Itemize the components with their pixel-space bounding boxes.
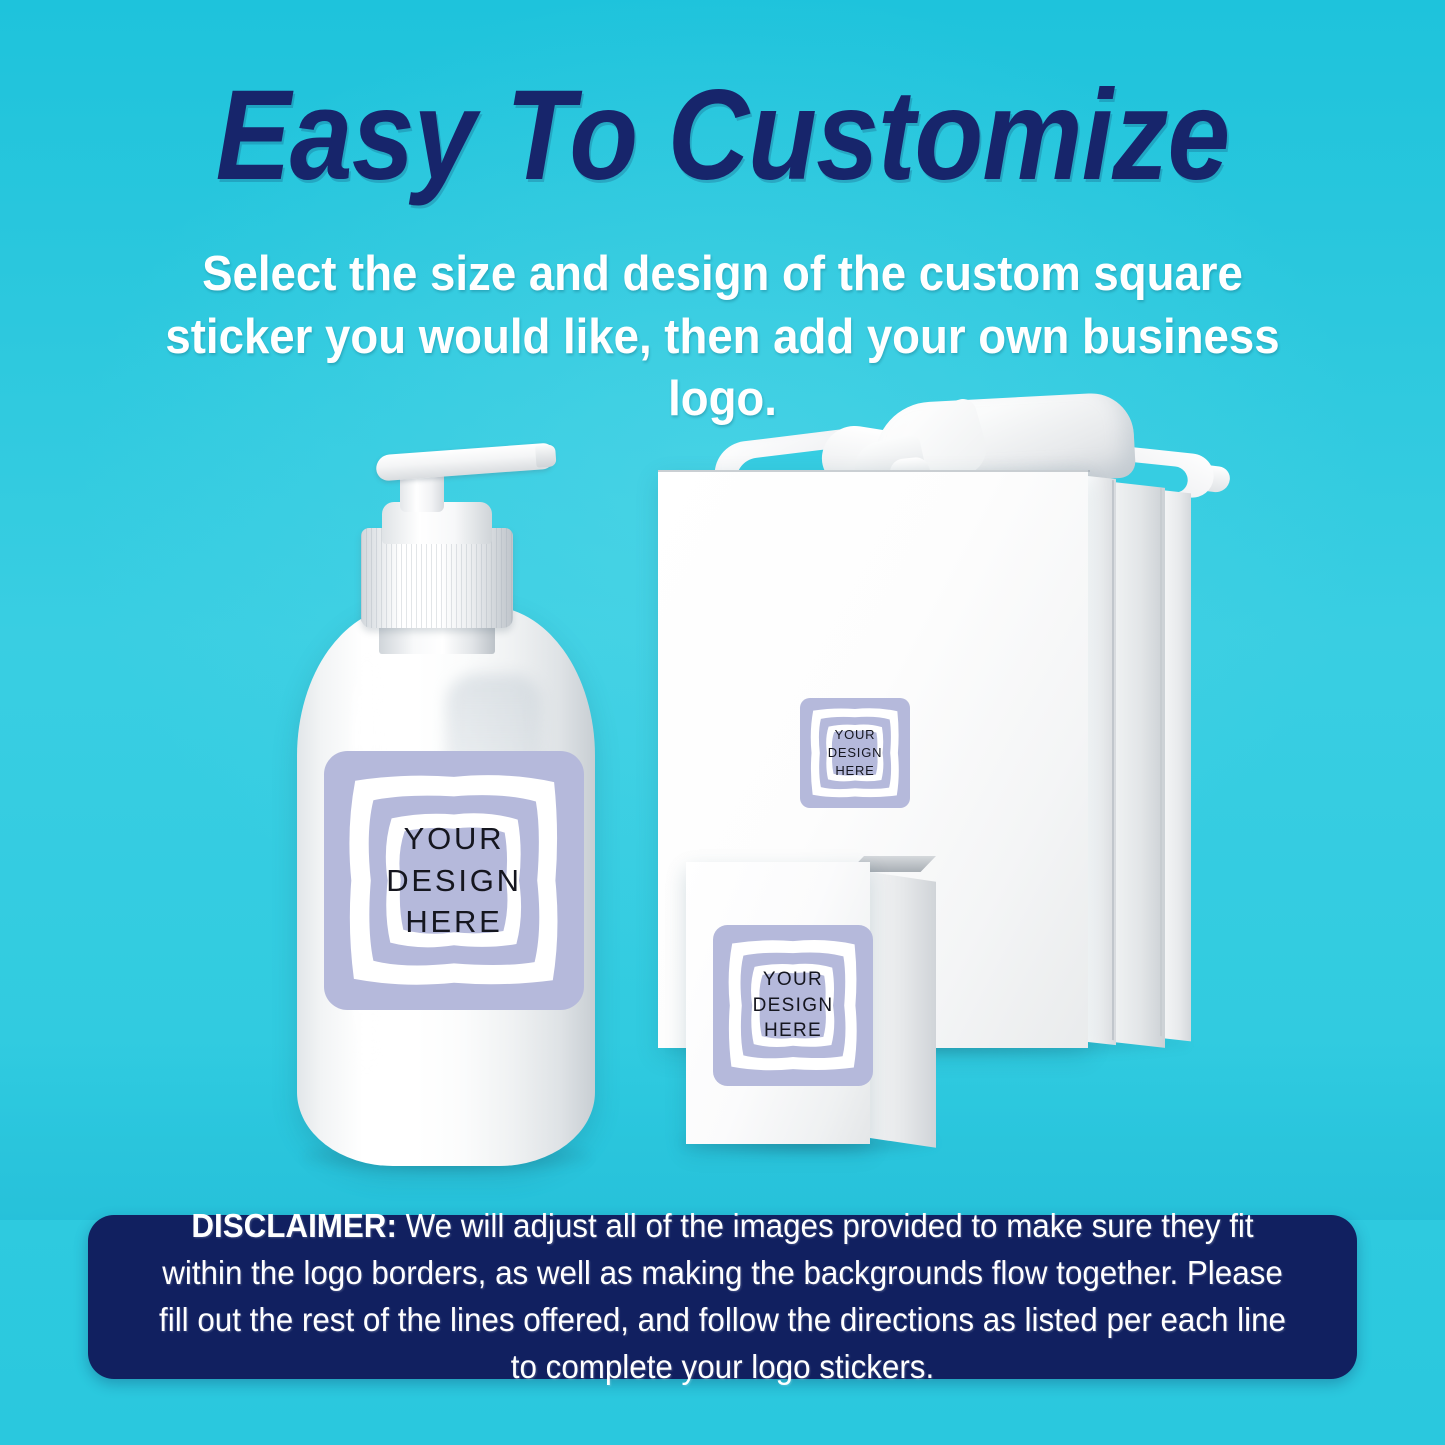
sticker-line-1: YOUR <box>763 967 823 992</box>
page-title: Easy To Customize <box>87 72 1359 200</box>
disclaimer-label: DISCLAIMER: <box>191 1207 397 1244</box>
sticker-on-small-box: YOUR DESIGN HERE <box>713 925 873 1086</box>
promo-graphic: Easy To Customize Select the size and de… <box>0 0 1445 1445</box>
sticker-text: YOUR DESIGN HERE <box>713 925 873 1086</box>
sticker-line-3: HERE <box>835 762 874 780</box>
sticker-text: YOUR DESIGN HERE <box>324 751 584 1010</box>
gift-box-lid-line <box>658 470 1090 472</box>
sticker-line-2: DESIGN <box>828 744 883 762</box>
gift-box-back-panel <box>1161 490 1191 1041</box>
sticker-line-3: HERE <box>764 1018 822 1043</box>
sticker-line-3: HERE <box>405 901 502 943</box>
sticker-line-1: YOUR <box>835 726 876 744</box>
gift-box-seam-outer <box>1160 488 1162 1036</box>
sticker-on-bottle: YOUR DESIGN HERE <box>324 751 584 1010</box>
sticker-line-1: YOUR <box>404 818 505 860</box>
disclaimer-text: DISCLAIMER: We will adjust all of the im… <box>120 1203 1326 1390</box>
gift-box-seam-inner <box>1112 480 1114 1040</box>
sticker-text: YOUR DESIGN HERE <box>800 698 910 808</box>
sticker-line-2: DESIGN <box>386 860 522 902</box>
gift-box-mid-panel <box>1113 482 1165 1048</box>
sticker-line-2: DESIGN <box>753 993 834 1018</box>
small-box-side-panel <box>870 872 936 1148</box>
sticker-on-gift-box: YOUR DESIGN HERE <box>800 698 910 808</box>
disclaimer-banner: DISCLAIMER: We will adjust all of the im… <box>88 1215 1357 1379</box>
pump-nozzle <box>375 443 554 482</box>
